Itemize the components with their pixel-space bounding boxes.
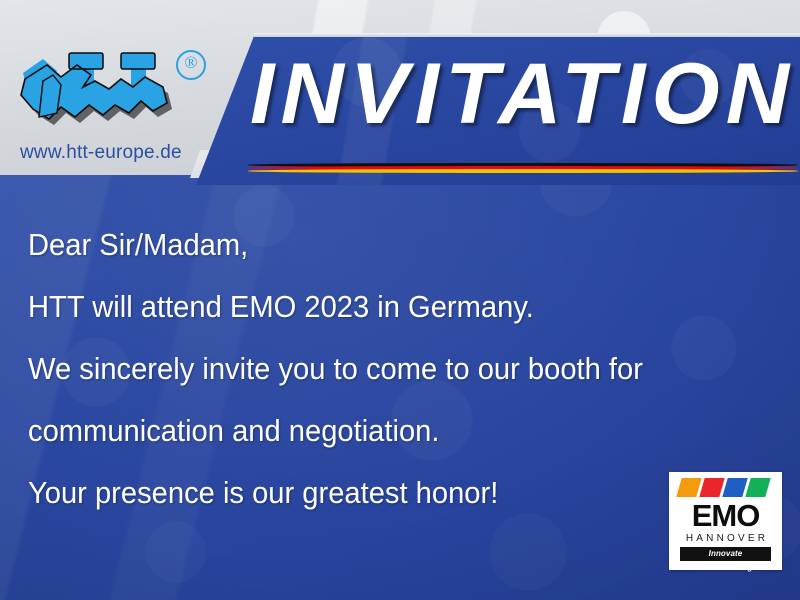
htt-logo-icon [14,48,174,136]
emo-logo-inner: EMO HANNOVER Innovate Manufacturing. [676,478,775,564]
emo-city-name: HANNOVER [676,533,775,544]
german-flag-stripe [248,163,798,174]
invitation-title: INVITATION [250,44,800,144]
body-line-event: HTT will attend EMO 2023 in Germany. [28,276,724,338]
emo-bar-blue [722,478,747,497]
invitation-body: Dear Sir/Madam, HTT will attend EMO 2023… [28,214,768,524]
company-website: www.htt-europe.de [20,142,182,164]
body-line-invite-1: We sincerely invite you to come to our b… [28,338,724,400]
invitation-banner-top-highlight [254,33,800,37]
emo-wordmark: EMO [676,500,775,531]
emo-color-bars-icon [679,478,773,497]
body-line-invite-2: communication and negotiation. [28,400,724,462]
emo-hannover-logo: EMO HANNOVER Innovate Manufacturing. [669,472,782,570]
emo-tagline: Innovate Manufacturing. [680,547,771,561]
emo-bar-green [745,478,770,497]
emo-bar-orange [676,478,701,497]
body-line-greeting: Dear Sir/Madam, [28,214,724,276]
body-line-closing: Your presence is our greatest honor! [28,462,724,524]
registered-trademark-icon: ® [176,50,206,80]
flag-stripe-gold [248,169,798,173]
emo-bar-red [699,478,724,497]
htt-logo-block: ® www.htt-europe.de [14,48,194,174]
invitation-poster: INVITATION ® www.htt-europe.de [0,0,800,600]
